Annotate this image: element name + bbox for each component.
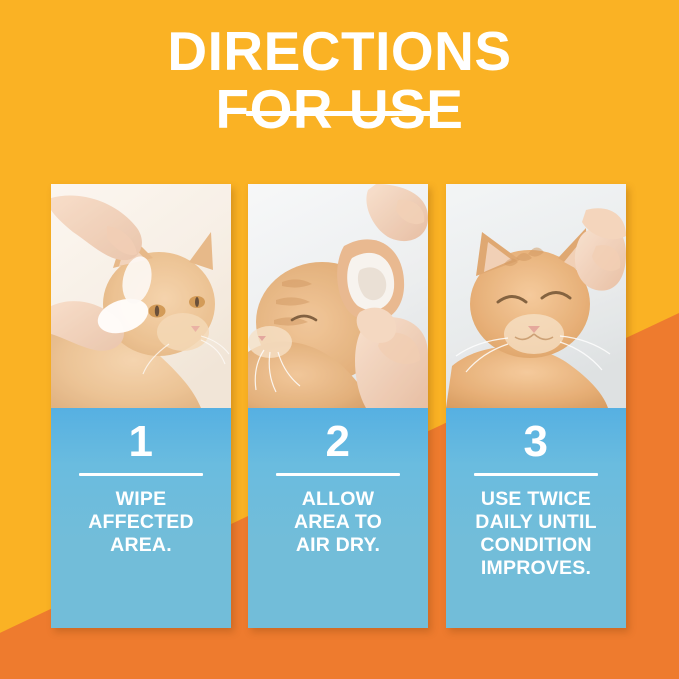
step-card-2: 2 ALLOW AREA TO AIR DRY. [248,184,428,628]
steps-container: 1 WIPE AFFECTED AREA. [51,184,643,628]
step-body-2: 2 ALLOW AREA TO AIR DRY. [248,408,428,628]
step-number-2: 2 [248,416,428,468]
directions-for-use-infographic: DIRECTIONS FOR USE [0,0,679,679]
step-text-1: WIPE AFFECTED AREA. [51,488,231,557]
step-body-1: 1 WIPE AFFECTED AREA. [51,408,231,628]
happy-cat-being-petted-photo-icon [446,184,626,408]
step-photo-1 [51,184,231,408]
page-header: DIRECTIONS FOR USE [0,22,679,138]
step-body-3: 3 USE TWICE DAILY UNTIL CONDITION IMPROV… [446,408,626,628]
step-photo-3 [446,184,626,408]
step-divider-3 [474,473,598,476]
page-title-line-1: DIRECTIONS [0,22,679,80]
step-card-1: 1 WIPE AFFECTED AREA. [51,184,231,628]
step-card-3: 3 USE TWICE DAILY UNTIL CONDITION IMPROV… [446,184,626,628]
page-title-line-2: FOR USE [0,80,679,138]
cat-ear-wipe-photo-icon [51,184,231,408]
cat-ear-inspection-photo-icon [248,184,428,408]
step-divider-1 [79,473,203,476]
step-text-3: USE TWICE DAILY UNTIL CONDITION IMPROVES… [446,488,626,580]
step-photo-2 [248,184,428,408]
title-underline-rule [246,111,434,116]
step-text-2: ALLOW AREA TO AIR DRY. [248,488,428,557]
step-number-1: 1 [51,416,231,468]
step-divider-2 [276,473,400,476]
step-number-3: 3 [446,416,626,468]
